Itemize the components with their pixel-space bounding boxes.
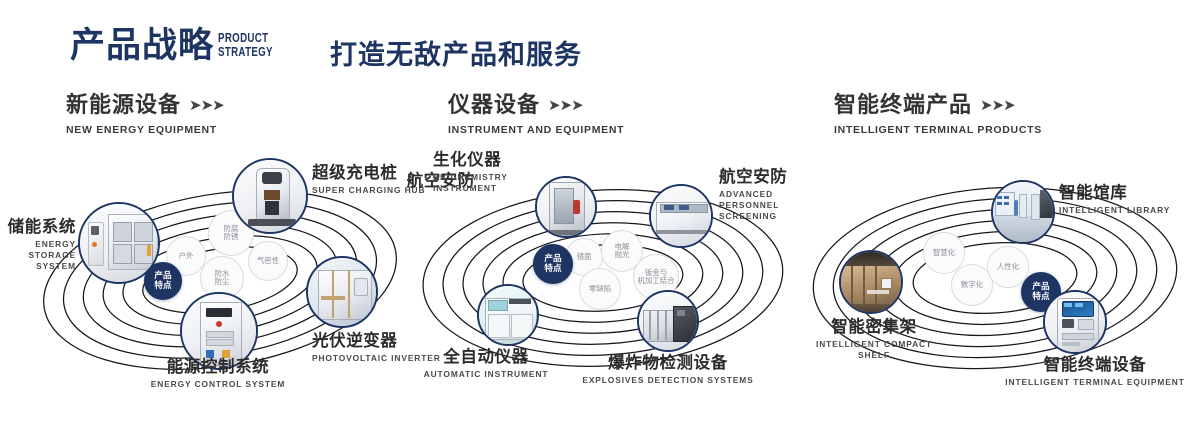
center-bubble-line2: 特点 xyxy=(154,281,171,291)
section-heading-intelligent-terminal: 智能终端产品➤➤➤ INTELLIGENT TERMINAL PRODUCTS xyxy=(834,92,1042,136)
section-title-cn: 仪器设备➤➤➤ xyxy=(448,92,624,119)
page-header: 产品战略 PRODUCTSTRATEGY 打造无敌产品和服务 xyxy=(0,0,1200,88)
feature-bubble-label: 钣金与 机加工结合 xyxy=(638,269,675,286)
energy-storage-system-photo xyxy=(80,204,158,282)
node-intelligent-compact-shelf[interactable] xyxy=(839,250,903,314)
section-title-cn: 智能终端产品➤➤➤ xyxy=(834,92,1042,119)
feature-bubble-label: 人性化 xyxy=(997,263,1019,271)
section-heading-new-energy: 新能源设备➤➤➤ NEW ENERGY EQUIPMENT xyxy=(66,92,224,136)
energy-control-system-photo xyxy=(182,294,256,368)
feature-bubble-label: 数字化 xyxy=(961,281,983,289)
label-en: INTELLIGENT LIBRARY xyxy=(1059,205,1170,216)
section-title-en: INTELLIGENT TERMINAL PRODUCTS xyxy=(834,124,1042,136)
center-bubble-product-features: 产品 特点 xyxy=(533,244,573,284)
feature-bubble: 气密性 xyxy=(248,241,288,281)
feature-bubble-label: 防水 防尘 xyxy=(215,270,230,287)
section-title-en: INSTRUMENT AND EQUIPMENT xyxy=(448,124,624,136)
title-en-line2: STRATEGY xyxy=(218,45,273,59)
advanced-personnel-screening-photo xyxy=(651,186,711,246)
feature-bubble: 零缺陷 xyxy=(579,268,621,310)
label-automatic-instrument: 全自动仪器 AUTOMATIC INSTRUMENT xyxy=(381,348,591,380)
label-en: EXPLOSIVES DETECTION SYSTEMS xyxy=(563,375,773,386)
cluster-intelligent-terminal: 智慧化 数字化 人性化 产品 特点 智能馆库 I xyxy=(795,150,1195,410)
label-en: BIOCHEMISTRY INSTRUMENT xyxy=(433,172,508,194)
node-advanced-personnel-screening[interactable] xyxy=(649,184,713,248)
feature-bubble-label: 电解 抛光 xyxy=(615,243,630,260)
feature-bubble-label: 户外 xyxy=(179,252,194,260)
chevrons-icon: ➤➤➤ xyxy=(189,93,224,119)
label-en: AUTOMATIC INSTRUMENT xyxy=(381,369,591,380)
label-en: INTELLIGENT TERMINAL EQUIPMENT xyxy=(985,377,1200,388)
label-cn: 智能馆库 xyxy=(1059,184,1170,203)
label-energy-control-system: 能源控制系统 ENERGY CONTROL SYSTEM xyxy=(68,358,368,390)
chevrons-icon: ➤➤➤ xyxy=(980,93,1015,119)
label-en: ENERGY STORAGE SYSTEM xyxy=(0,239,76,272)
super-charging-hub-photo xyxy=(234,160,306,232)
label-cn: 航空安防 xyxy=(719,168,803,187)
page-subtitle: 打造无敌产品和服务 xyxy=(330,33,582,72)
section-title-cn: 新能源设备➤➤➤ xyxy=(66,92,224,119)
intelligent-terminal-equipment-photo xyxy=(1045,292,1105,352)
label-advanced-personnel-screening: 航空安防 ADVANCED PERSONNEL SCREENING xyxy=(719,168,803,222)
title-en-line1: PRODUCT xyxy=(218,31,268,45)
label-cn: 爆炸物检测设备 xyxy=(563,354,773,373)
feature-bubble-label: 智慧化 xyxy=(933,249,955,257)
label-cn: 全自动仪器 xyxy=(381,348,591,367)
node-explosives-detection-systems[interactable] xyxy=(637,290,699,352)
page-title: 产品战略 xyxy=(70,26,214,66)
intelligent-library-photo xyxy=(993,182,1053,242)
biochemistry-instrument-photo xyxy=(537,178,595,236)
section-heading-instrument: 仪器设备➤➤➤ INSTRUMENT AND EQUIPMENT xyxy=(448,92,624,136)
page-title-english: PRODUCTSTRATEGY xyxy=(218,32,273,59)
node-biochemistry-instrument[interactable] xyxy=(535,176,597,238)
section-title-cn-text: 仪器设备 xyxy=(448,92,540,117)
label-intelligent-library: 智能馆库 INTELLIGENT LIBRARY xyxy=(1059,184,1170,216)
node-super-charging-hub[interactable] xyxy=(232,158,308,234)
label-biochemistry-instrument: 生化仪器 BIOCHEMISTRY INSTRUMENT xyxy=(433,151,508,194)
label-intelligent-compact-shelf: 智能密集架 INTELLIGENT COMPACT SHELF xyxy=(769,318,979,361)
node-intelligent-library[interactable] xyxy=(991,180,1055,244)
section-title-cn-text: 智能终端产品 xyxy=(834,92,972,117)
explosives-detection-systems-photo xyxy=(639,292,697,350)
label-intelligent-terminal-equipment: 智能终端设备 INTELLIGENT TERMINAL EQUIPMENT xyxy=(985,356,1200,388)
node-energy-storage-system[interactable] xyxy=(78,202,160,284)
label-en: ADVANCED PERSONNEL SCREENING xyxy=(719,189,803,222)
automatic-instrument-photo xyxy=(479,286,537,344)
photovoltaic-inverter-photo xyxy=(308,258,376,326)
label-cn: 智能密集架 xyxy=(769,318,979,337)
feature-bubble-label: 零缺陷 xyxy=(589,285,611,293)
label-cn: 生化仪器 xyxy=(433,151,508,170)
chevrons-icon: ➤➤➤ xyxy=(548,93,583,119)
label-cn: 能源控制系统 xyxy=(68,358,368,377)
center-bubble-line2: 特点 xyxy=(544,264,561,274)
label-explosives-detection-systems: 爆炸物检测设备 EXPLOSIVES DETECTION SYSTEMS xyxy=(563,354,773,386)
cluster-instrument: 镜面 电解 抛光 零缺陷 钣金与 机加工结合 产品 特点 航空安防 生化仪器 B… xyxy=(403,150,803,410)
label-en: ENERGY CONTROL SYSTEM xyxy=(68,379,368,390)
section-title-en: NEW ENERGY EQUIPMENT xyxy=(66,124,224,136)
feature-bubble-label: 气密性 xyxy=(257,257,279,265)
section-title-cn-text: 新能源设备 xyxy=(66,92,181,117)
label-cn: 智能终端设备 xyxy=(985,356,1200,375)
label-en: INTELLIGENT COMPACT SHELF xyxy=(769,339,979,361)
label-energy-storage-system: 储能系统 ENERGY STORAGE SYSTEM xyxy=(0,218,76,272)
node-automatic-instrument[interactable] xyxy=(477,284,539,346)
feature-bubble-label: 镜面 xyxy=(577,253,592,261)
intelligent-compact-shelf-photo xyxy=(841,252,901,312)
product-strategy-infographic: 产品战略 PRODUCTSTRATEGY 打造无敌产品和服务 新能源设备➤➤➤ … xyxy=(0,0,1200,422)
node-photovoltaic-inverter[interactable] xyxy=(306,256,378,328)
node-intelligent-terminal-equipment[interactable] xyxy=(1043,290,1107,354)
label-cn: 储能系统 xyxy=(0,218,76,237)
